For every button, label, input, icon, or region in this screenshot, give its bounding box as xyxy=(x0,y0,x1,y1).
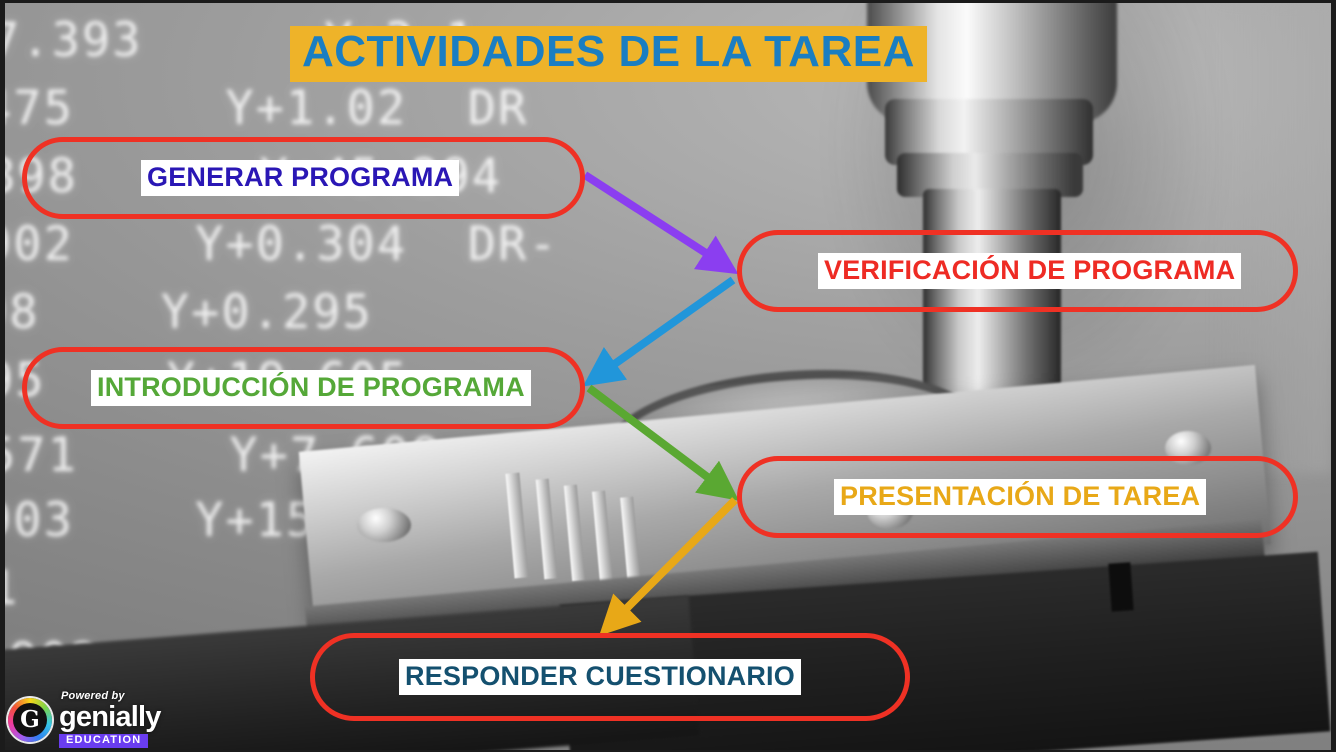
callout-generar-programa[interactable]: GENERAR PROGRAMA xyxy=(22,137,585,219)
slide-canvas: 7.393 Y+3.1 475 Y+1.02 DR 898 Y+45.294 9… xyxy=(0,0,1336,752)
callout-label: GENERAR PROGRAMA xyxy=(141,160,459,196)
callout-verificacion-de-programa[interactable]: VERIFICACIÓN DE PROGRAMA xyxy=(737,230,1298,312)
genially-brand-label: genially xyxy=(59,703,161,732)
clamp-bolt xyxy=(357,508,411,542)
page-title: ACTIVIDADES DE LA TAREA xyxy=(290,26,927,82)
callout-label: RESPONDER CUESTIONARIO xyxy=(399,659,801,695)
genially-logo-icon: G xyxy=(8,698,52,742)
callout-introduccion-de-programa[interactable]: INTRODUCCIÓN DE PROGRAMA xyxy=(22,347,585,429)
callout-label: PRESENTACIÓN DE TAREA xyxy=(834,479,1206,515)
genially-logo-letter: G xyxy=(13,703,47,737)
callout-presentacion-de-tarea[interactable]: PRESENTACIÓN DE TAREA xyxy=(737,456,1298,538)
callout-label: VERIFICACIÓN DE PROGRAMA xyxy=(818,253,1241,289)
vise-slot xyxy=(1108,562,1133,611)
genially-watermark[interactable]: G Powered by genially EDUCATION xyxy=(8,691,161,748)
callout-responder-cuestionario[interactable]: RESPONDER CUESTIONARIO xyxy=(310,633,910,721)
genially-plan-badge: EDUCATION xyxy=(59,734,148,748)
callout-label: INTRODUCCIÓN DE PROGRAMA xyxy=(91,370,531,406)
